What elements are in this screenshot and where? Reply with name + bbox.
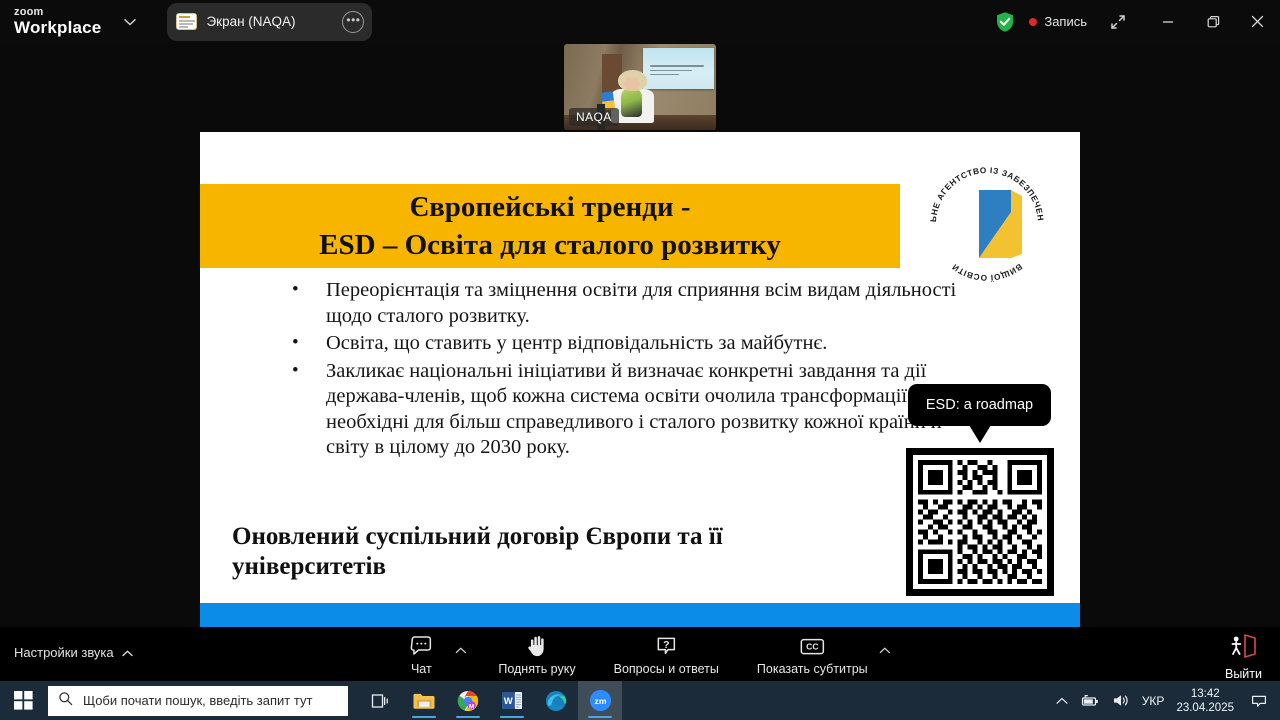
list-item: Переорієнтація та зміцнення освіти для с…: [278, 278, 958, 329]
list-item: Закликає національні ініціативи й визнач…: [278, 359, 958, 461]
leave-door-icon: [1228, 633, 1258, 664]
chat-control-group: Чат: [389, 631, 466, 676]
leave-label: Выйти: [1225, 667, 1262, 681]
qanda-label: Вопросы и ответы: [614, 662, 719, 676]
zoom-title-bar: zoom Workplace Экран (NAQA) ••• Запись: [0, 0, 1280, 43]
slide-title-line-2: ESD – Освіта для сталого розвитку: [319, 226, 781, 264]
volume-icon[interactable]: [1112, 693, 1130, 708]
recording-label: Запись: [1044, 14, 1087, 29]
closed-captions-icon: CC: [799, 633, 825, 659]
zoom-icon[interactable]: zm: [578, 681, 622, 720]
show-captions-button[interactable]: CC Показать субтитры: [747, 631, 878, 676]
windows-taskbar: Щоби почати пошук, введіть запит тут: [0, 681, 1280, 720]
search-icon: [58, 691, 73, 711]
qr-callout-group: ESD: a roadmap: [906, 384, 1054, 596]
svg-text:W: W: [504, 696, 513, 707]
captions-chevron-up-icon[interactable]: [880, 641, 891, 659]
zoom-logo: zoom Workplace: [14, 7, 101, 36]
green-shield-check-icon[interactable]: [995, 11, 1015, 33]
raise-hand-button[interactable]: Поднять руку: [488, 631, 585, 676]
chrome-icon[interactable]: M: [446, 681, 490, 720]
captions-control-group: CC Показать субтитры: [747, 631, 891, 676]
slide-bottom-bar: [200, 603, 1080, 627]
leave-meeting-button[interactable]: Выйти: [1225, 633, 1262, 681]
fullscreen-expand-icon[interactable]: [1103, 7, 1133, 37]
toolbar-center-controls: Чат Поднять руку ?: [389, 631, 890, 676]
search-placeholder: Щоби почати пошук, введіть запит тут: [83, 693, 312, 708]
zoom-bottom-toolbar: Настройки звука Чат: [0, 627, 1280, 681]
show-captions-label: Показать субтитры: [757, 662, 868, 676]
close-icon[interactable]: [1235, 0, 1280, 43]
shared-slide[interactable]: Європейські тренди - ESD – Освіта для ст…: [200, 132, 1080, 627]
file-explorer-icon[interactable]: [402, 681, 446, 720]
battery-icon[interactable]: [1080, 694, 1100, 708]
windows-start-icon[interactable]: [0, 681, 46, 720]
callout-label: ESD: a roadmap: [926, 397, 1033, 413]
app-running-indicator: [500, 716, 524, 719]
recording-indicator[interactable]: Запись: [1029, 14, 1087, 29]
chevron-up-icon[interactable]: [1056, 697, 1068, 705]
more-options-icon[interactable]: •••: [342, 11, 364, 33]
restore-icon[interactable]: [1190, 0, 1235, 43]
clock-time: 13:42: [1176, 687, 1234, 701]
zoom-logo-bottom: Workplace: [14, 19, 101, 36]
slide-title-banner: Європейські тренди - ESD – Освіта для ст…: [200, 184, 900, 268]
screen-thumbnail-icon: [176, 13, 197, 30]
raise-hand-label: Поднять руку: [498, 662, 575, 676]
clock-date: 23.04.2025: [1176, 701, 1234, 715]
window-controls: Запись: [995, 0, 1280, 43]
chevron-down-icon[interactable]: [117, 9, 143, 35]
svg-text:?: ?: [663, 639, 669, 651]
qanda-button[interactable]: ? Вопросы и ответы: [604, 631, 729, 676]
app-running-indicator: [456, 716, 480, 719]
task-view-icon[interactable]: [358, 681, 402, 720]
svg-text:zm: zm: [594, 696, 606, 706]
chat-label: Чат: [411, 662, 432, 676]
slide-bullet-list: Переорієнтація та зміцнення освіти для с…: [278, 278, 958, 463]
shared-screen-label: Экран (NAQA): [206, 14, 295, 29]
qr-code[interactable]: [906, 448, 1054, 596]
edge-icon[interactable]: [534, 681, 578, 720]
notification-icon[interactable]: [1246, 681, 1272, 720]
audio-settings-button[interactable]: Настройки звука: [14, 645, 133, 660]
svg-text:M: M: [469, 703, 474, 710]
clock[interactable]: 13:42 23.04.2025: [1176, 687, 1234, 715]
taskbar-apps: M W: [358, 681, 622, 720]
raise-hand-icon: [526, 633, 548, 659]
audio-settings-label: Настройки звука: [14, 645, 114, 660]
chat-button[interactable]: Чат: [389, 631, 453, 676]
svg-text:ВИЩОЇ ОСВІТИ: ВИЩОЇ ОСВІТИ: [950, 262, 1025, 283]
participant-name-label: NAQA: [569, 108, 619, 126]
word-icon[interactable]: W: [490, 681, 534, 720]
system-tray: УКР 13:42 23.04.2025: [1056, 681, 1280, 720]
zoom-logo-top: zoom: [14, 7, 101, 18]
slide-title-line-1: Європейські тренди -: [409, 188, 690, 226]
app-running-indicator: [412, 716, 436, 719]
search-input[interactable]: Щоби почати пошук, введіть запит тут: [48, 686, 348, 716]
minimize-icon[interactable]: [1145, 0, 1190, 43]
chat-chevron-up-icon[interactable]: [455, 641, 466, 659]
slide-footer-heading: Оновлений суспільний договір Європи та ї…: [232, 522, 872, 582]
chat-bubble-icon: [409, 633, 433, 659]
recording-dot-icon: [1029, 18, 1037, 26]
language-indicator[interactable]: УКР: [1142, 694, 1165, 708]
shared-screen-pill[interactable]: Экран (NAQA) •••: [167, 3, 372, 41]
participant-video-thumbnail[interactable]: NAQA: [564, 44, 716, 130]
callout-bubble: ESD: a roadmap: [908, 384, 1051, 426]
zoom-meeting-window: zoom Workplace Экран (NAQA) ••• Запись: [0, 0, 1280, 720]
naqa-logo: НАЦІОНАЛЬНЕ АГЕНТСТВО ІЗ ЗАБЕЗПЕЧЕННЯ ЯК…: [917, 154, 1057, 294]
question-mark-icon: ?: [654, 633, 678, 659]
chevron-up-icon[interactable]: [122, 645, 133, 660]
list-item: Освіта, що ставить у центр відповідальні…: [278, 331, 958, 357]
app-running-indicator: [588, 716, 612, 719]
svg-text:CC: CC: [806, 641, 818, 651]
